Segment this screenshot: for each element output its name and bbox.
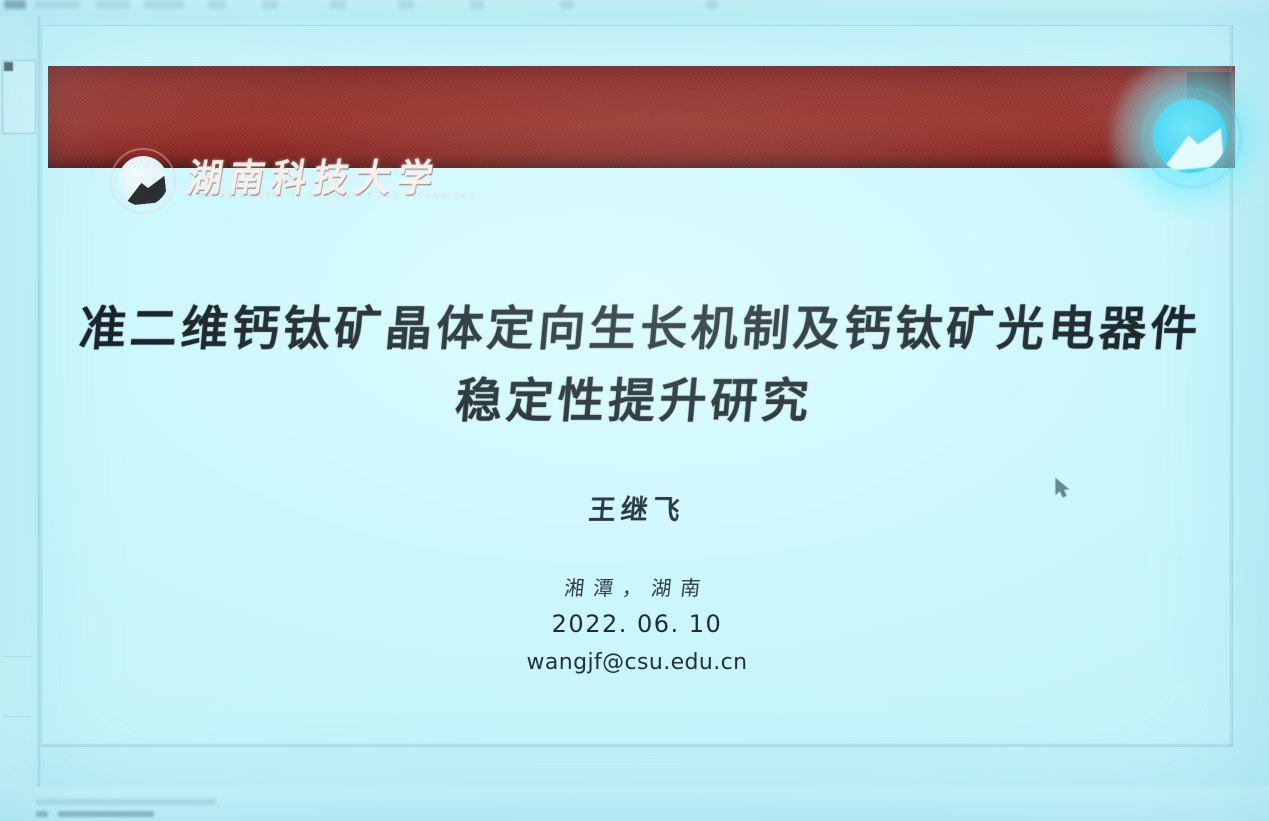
status-bar[interactable] bbox=[0, 787, 1269, 821]
university-seal-icon bbox=[110, 148, 176, 214]
ribbon-tab-slideshow[interactable] bbox=[330, 0, 346, 9]
slide-title[interactable]: 准二维钙钛矿晶体定向生长机制及钙钛矿光电器件稳定性提升研究 bbox=[36, 294, 1239, 438]
ribbon-tab-design[interactable] bbox=[144, 0, 184, 9]
projected-slide-photograph: 湖南科技大学 HUNAN UNIVERSITY OF SCIENCE AND T… bbox=[0, 0, 1269, 821]
ribbon-tab-insert[interactable] bbox=[96, 0, 130, 9]
slide-email[interactable]: wangjf@csu.edu.cn bbox=[42, 650, 1232, 675]
slide-thumbnail-pane[interactable] bbox=[0, 16, 40, 806]
ribbon-tab-help[interactable] bbox=[560, 0, 574, 9]
pane-divider bbox=[3, 716, 31, 717]
slide-header-banner: 湖南科技大学 HUNAN UNIVERSITY OF SCIENCE AND T… bbox=[48, 66, 1235, 168]
slide-thumbnail-banner bbox=[4, 62, 13, 71]
ribbon-tab-view[interactable] bbox=[470, 0, 484, 9]
status-slide-indicator bbox=[36, 799, 216, 805]
ribbon-file-menu[interactable] bbox=[4, 0, 26, 9]
university-name-english: HUNAN UNIVERSITY OF SCIENCE AND TECHNOLO… bbox=[198, 192, 476, 200]
slide-right-edge bbox=[1230, 26, 1232, 746]
logo-inner-disc bbox=[1153, 99, 1227, 173]
seal-mountain-glyph bbox=[118, 156, 168, 206]
ribbon-tab-review[interactable] bbox=[398, 0, 414, 9]
ribbon-tab-transitions[interactable] bbox=[208, 0, 226, 9]
pane-divider bbox=[3, 656, 31, 657]
status-notes-icon[interactable] bbox=[36, 811, 48, 817]
slide-canvas[interactable]: 湖南科技大学 HUNAN UNIVERSITY OF SCIENCE AND T… bbox=[42, 26, 1232, 746]
ribbon-tab-animations[interactable] bbox=[262, 0, 278, 9]
slide-bottom-edge bbox=[42, 744, 1232, 746]
ribbon-tab-home[interactable] bbox=[34, 0, 80, 9]
ribbon-overflow-icon[interactable] bbox=[706, 0, 718, 9]
slide-date[interactable]: 2022. 06. 10 bbox=[42, 610, 1232, 638]
status-view-buttons[interactable] bbox=[58, 811, 154, 817]
arrow-pointer-icon bbox=[1055, 478, 1071, 498]
slide-location[interactable]: 湘潭，湖南 bbox=[40, 572, 1233, 601]
slide-thumbnail-1[interactable] bbox=[2, 60, 36, 134]
powerpoint-ribbon[interactable] bbox=[0, 0, 1269, 14]
cyan-circular-mountain-logo-icon bbox=[1140, 86, 1240, 186]
